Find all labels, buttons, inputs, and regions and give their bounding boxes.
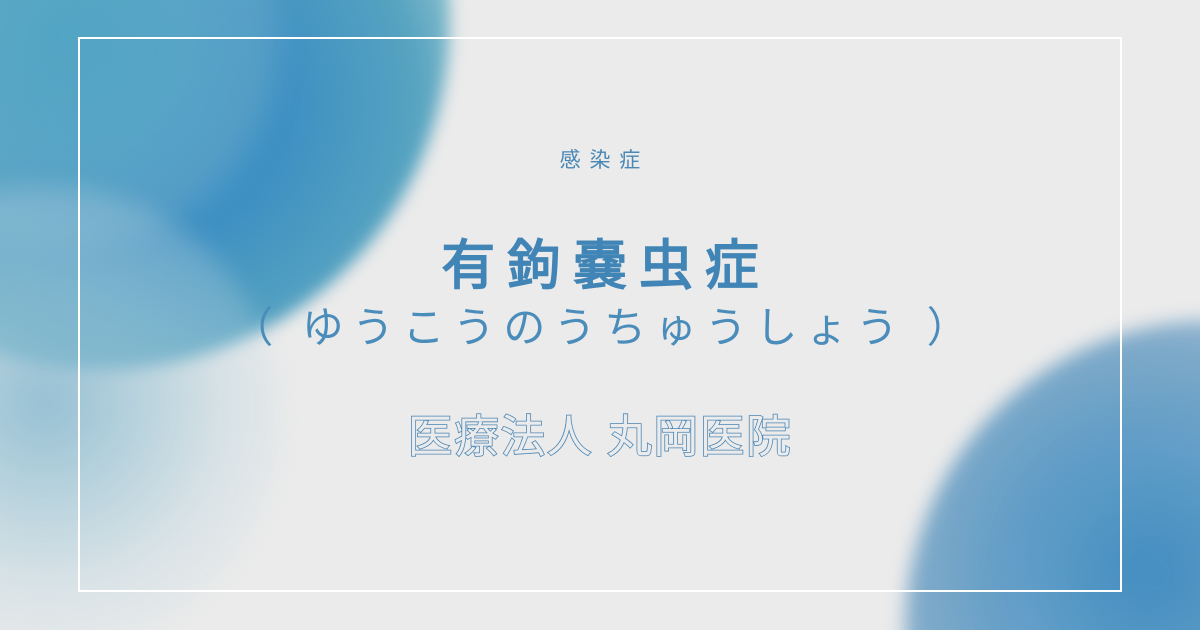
title-block: 有鉤嚢虫症 （ ゆうこうのうちゅうしょう ） bbox=[223, 236, 977, 352]
page-title: 有鉤嚢虫症 bbox=[223, 236, 977, 296]
page-title-reading: （ ゆうこうのうちゅうしょう ） bbox=[223, 303, 977, 353]
poster-canvas: 感染症 有鉤嚢虫症 （ ゆうこうのうちゅうしょう ） 医療法人 丸岡医院 bbox=[0, 0, 1200, 630]
organization-name: 医療法人 丸岡医院 bbox=[408, 410, 793, 464]
poster-content: 感染症 有鉤嚢虫症 （ ゆうこうのうちゅうしょう ） 医療法人 丸岡医院 bbox=[0, 0, 1200, 630]
category-label: 感染症 bbox=[551, 148, 649, 174]
